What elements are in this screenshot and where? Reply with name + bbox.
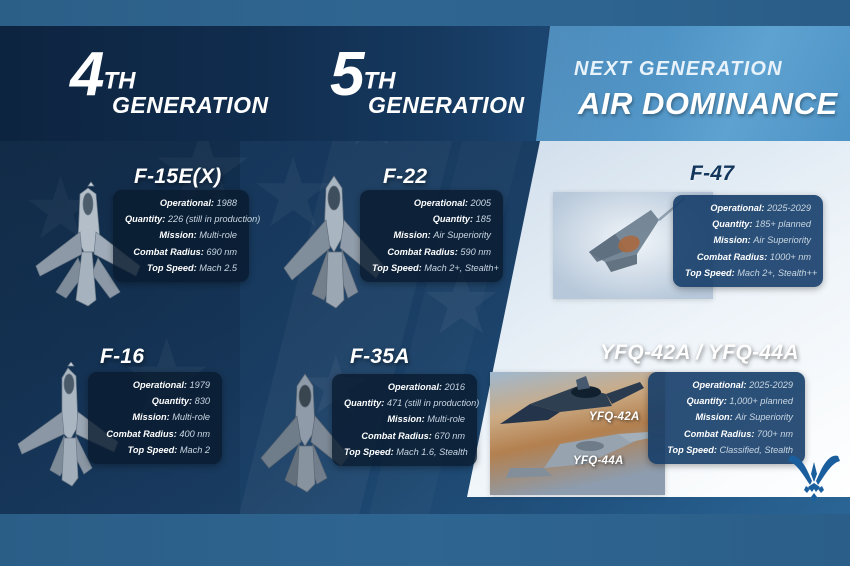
spec-value: Multi-role <box>199 230 237 240</box>
spec-key: Combat Radius: <box>697 252 767 262</box>
spec-key: Mission: <box>393 230 430 240</box>
spec-key: Mission: <box>695 412 732 422</box>
spec-value: 670 nm <box>434 431 465 441</box>
spec-key: Quantity: <box>433 214 473 224</box>
spec-key: Combat Radius: <box>106 429 176 439</box>
spec-row-mission: Mission: Multi-role <box>100 413 210 422</box>
spec-row-operational: Operational: 2025-2029 <box>685 204 811 213</box>
spec-value: Multi-role <box>427 414 465 424</box>
spec-key: Top Speed: <box>344 447 394 457</box>
spec-card-f35a: Operational: 2016 Quantity: 471 (still i… <box>332 374 477 466</box>
gen5-number: 5 <box>330 40 363 109</box>
gen4-word: GENERATION <box>112 92 269 119</box>
spec-value: 2025-2029 <box>749 380 793 390</box>
spec-row-mission: Mission: Air Superiority <box>685 236 811 245</box>
spec-value: 2005 <box>471 198 491 208</box>
spec-value: Mach 2+, Stealth+ <box>424 263 499 273</box>
spec-key: Quantity: <box>712 219 752 229</box>
spec-value: 1988 <box>217 198 237 208</box>
spec-row-top-speed: Top Speed: Mach 2+, Stealth+ <box>372 264 491 273</box>
spec-key: Combat Radius: <box>387 247 457 257</box>
spec-row-top-speed: Top Speed: Mach 2.5 <box>125 264 237 273</box>
spec-key: Mission: <box>713 235 750 245</box>
spec-value: 2016 <box>445 382 465 392</box>
spec-value: 1,000+ planned <box>729 396 793 406</box>
spec-value: Mach 2+, Stealth++ <box>737 268 817 278</box>
spec-row-mission: Mission: Air Superiority <box>372 231 491 240</box>
spec-value: 185+ planned <box>755 219 811 229</box>
spec-row-mission: Mission: Multi-role <box>125 231 237 240</box>
spec-row-quantity: Quantity: 226 (still in production) <box>125 215 237 224</box>
spec-key: Combat Radius: <box>684 429 754 439</box>
spec-value: 185 <box>476 214 491 224</box>
drone-label-yfq44a: YFQ-44A <box>573 455 624 467</box>
spec-row-combat-radius: Combat Radius: 590 nm <box>372 248 491 257</box>
top-background-band <box>0 0 850 26</box>
spec-row-combat-radius: Combat Radius: 1000+ nm <box>685 253 811 262</box>
spec-key: Quantity: <box>152 396 192 406</box>
spec-card-f16: Operational: 1979 Quantity: 830 Mission:… <box>88 372 222 464</box>
gen4-number: 4 <box>70 40 103 109</box>
spec-value: Mach 1.6, Stealth <box>396 447 468 457</box>
spec-value: 1000+ nm <box>770 252 811 262</box>
spec-key: Quantity: <box>687 396 727 406</box>
spec-value: 1979 <box>190 380 210 390</box>
spec-value: Classified, Stealth <box>719 445 793 455</box>
spec-value: 400 nm <box>179 429 210 439</box>
spec-row-operational: Operational: 2025-2029 <box>660 381 793 390</box>
spec-row-combat-radius: Combat Radius: 670 nm <box>344 432 465 441</box>
spec-key: Mission: <box>159 230 196 240</box>
spec-card-f15: Operational: 1988 Quantity: 226 (still i… <box>113 190 249 282</box>
spec-card-yfq: Operational: 2025-2029 Quantity: 1,000+ … <box>648 372 805 464</box>
spec-value: Air Superiority <box>433 230 491 240</box>
spec-key: Top Speed: <box>147 263 197 273</box>
spec-card-f22: Operational: 2005 Quantity: 185 Mission:… <box>360 190 503 282</box>
spec-key: Combat Radius: <box>133 247 203 257</box>
aircraft-name-f35a: F-35A <box>350 345 410 369</box>
spec-value: 590 nm <box>460 247 491 257</box>
spec-card-f47: Operational: 2025-2029 Quantity: 185+ pl… <box>673 195 823 287</box>
spec-row-operational: Operational: 2016 <box>344 383 465 392</box>
spec-key: Top Speed: <box>128 445 178 455</box>
spec-key: Operational: <box>388 382 442 392</box>
spec-key: Mission: <box>132 412 169 422</box>
spec-key: Top Speed: <box>685 268 735 278</box>
infographic-root: ★ ★ ★ ★ ★ ★ ★ 4TH GENERATION 5TH GENERAT… <box>0 0 850 566</box>
spec-row-operational: Operational: 1988 <box>125 199 237 208</box>
gen4-suffix: TH <box>103 68 135 95</box>
spec-value: 2025-2029 <box>767 203 811 213</box>
spec-key: Top Speed: <box>372 263 422 273</box>
aircraft-name-f47: F-47 <box>690 162 734 186</box>
header-bar-light <box>536 26 850 141</box>
spec-row-top-speed: Top Speed: Mach 2+, Stealth++ <box>685 269 811 278</box>
spec-value: Multi-role <box>172 412 210 422</box>
spec-row-combat-radius: Combat Radius: 690 nm <box>125 248 237 257</box>
spec-row-mission: Mission: Air Superiority <box>660 413 793 422</box>
spec-key: Operational: <box>160 198 214 208</box>
spec-key: Quantity: <box>125 214 165 224</box>
spec-row-quantity: Quantity: 471 (still in production) <box>344 399 465 408</box>
spec-value: 700+ nm <box>757 429 793 439</box>
ngad-title-line1: NEXT GENERATION <box>574 58 783 81</box>
spec-row-mission: Mission: Multi-role <box>344 415 465 424</box>
spec-value: Mach 2 <box>180 445 210 455</box>
spec-value: 471 (still in production) <box>387 398 479 408</box>
spec-row-operational: Operational: 1979 <box>100 381 210 390</box>
spec-value: 830 <box>195 396 210 406</box>
spec-row-combat-radius: Combat Radius: 400 nm <box>100 430 210 439</box>
ngad-title-line2: AIR DOMINANCE <box>578 86 838 122</box>
spec-row-quantity: Quantity: 1,000+ planned <box>660 397 793 406</box>
spec-value: Air Superiority <box>753 235 811 245</box>
spec-key: Operational: <box>133 380 187 390</box>
spec-value: Mach 2.5 <box>199 263 237 273</box>
gen5-suffix: TH <box>363 68 395 95</box>
spec-row-quantity: Quantity: 185+ planned <box>685 220 811 229</box>
spec-row-top-speed: Top Speed: Mach 1.6, Stealth <box>344 448 465 457</box>
spec-key: Mission: <box>387 414 424 424</box>
spec-key: Operational: <box>692 380 746 390</box>
spec-key: Quantity: <box>344 398 384 408</box>
spec-value: 226 (still in production) <box>168 214 260 224</box>
drone-label-yfq42a: YFQ-42A <box>589 411 640 423</box>
spec-row-top-speed: Top Speed: Classified, Stealth <box>660 446 793 455</box>
usaf-wings-logo-icon <box>786 452 842 504</box>
spec-value: 690 nm <box>206 247 237 257</box>
spec-key: Operational: <box>710 203 764 213</box>
spec-key: Combat Radius: <box>361 431 431 441</box>
aircraft-image-yfq <box>490 372 665 495</box>
spec-key: Operational: <box>414 198 468 208</box>
spec-row-top-speed: Top Speed: Mach 2 <box>100 446 210 455</box>
bottom-background-band <box>0 514 850 566</box>
spec-key: Top Speed: <box>667 445 717 455</box>
aircraft-name-yfq: YFQ-42A / YFQ-44A <box>600 341 799 365</box>
spec-row-combat-radius: Combat Radius: 700+ nm <box>660 430 793 439</box>
spec-row-quantity: Quantity: 830 <box>100 397 210 406</box>
spec-row-quantity: Quantity: 185 <box>372 215 491 224</box>
spec-value: Air Superiority <box>735 412 793 422</box>
spec-row-operational: Operational: 2005 <box>372 199 491 208</box>
gen5-word: GENERATION <box>368 92 525 119</box>
